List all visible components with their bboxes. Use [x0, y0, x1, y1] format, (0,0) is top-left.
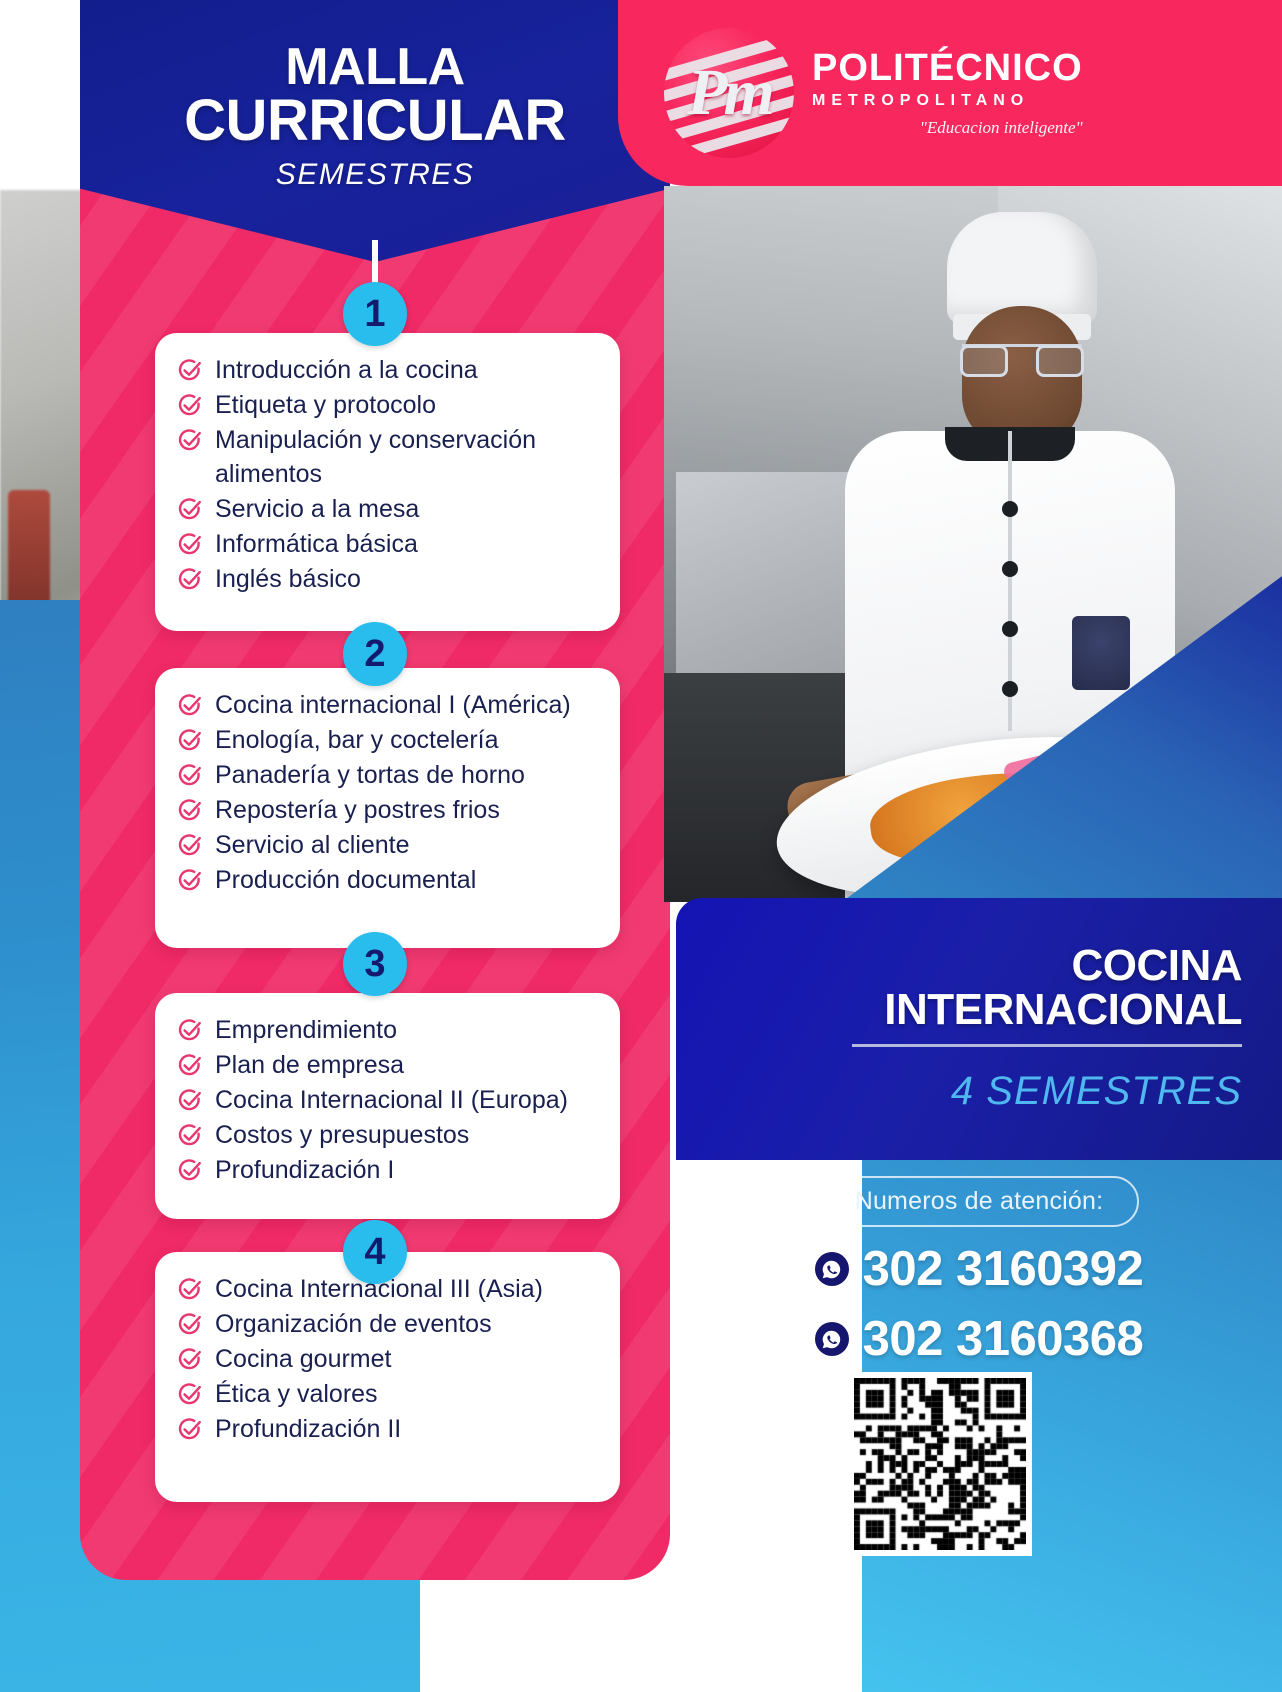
course-item: Manipulación y conservación alimentos: [177, 423, 598, 491]
program-duration: 4 SEMESTRES: [676, 1069, 1242, 1114]
course-label: Servicio a la mesa: [215, 492, 598, 526]
whatsapp-icon[interactable]: [815, 1322, 849, 1356]
program-title-line1: COCINA: [676, 944, 1242, 988]
course-item: Etiqueta y protocolo: [177, 388, 598, 422]
course-item: Cocina internacional I (América): [177, 688, 598, 722]
course-label: Producción documental: [215, 863, 598, 897]
check-circle-icon: [177, 532, 203, 558]
course-label: Profundización II: [215, 1412, 598, 1446]
check-circle-icon: [177, 1158, 203, 1184]
check-circle-icon: [177, 1347, 203, 1373]
uniform-badge: [1072, 616, 1130, 690]
check-circle-icon: [177, 1277, 203, 1303]
course-list: Introducción a la cocinaEtiqueta y proto…: [177, 353, 598, 596]
course-item: Organización de eventos: [177, 1307, 598, 1341]
course-label: Panadería y tortas de horno: [215, 758, 598, 792]
course-label: Enología, bar y coctelería: [215, 723, 598, 757]
check-circle-icon: [177, 693, 203, 719]
page-title-line1: MALLA: [80, 42, 670, 93]
brand-name: POLITÉCNICO: [812, 49, 1083, 87]
course-label: Emprendimiento: [215, 1013, 598, 1047]
course-label: Manipulación y conservación alimentos: [215, 423, 598, 491]
semester-card-4: Cocina Internacional III (Asia)Organizac…: [155, 1252, 620, 1502]
semester-badge-3[interactable]: 3: [343, 932, 407, 996]
check-circle-icon: [177, 728, 203, 754]
check-circle-icon: [177, 868, 203, 894]
course-label: Plan de empresa: [215, 1048, 598, 1082]
course-list: Cocina internacional I (América)Enología…: [177, 688, 598, 897]
brand-subname: METROPOLITANO: [812, 92, 1083, 110]
check-circle-icon: [177, 1382, 203, 1408]
program-title-line2: INTERNACIONAL: [676, 988, 1242, 1032]
course-item: Servicio al cliente: [177, 828, 598, 862]
brand-tagline: "Educacion inteligente": [812, 118, 1083, 138]
page-title-line2: CURRICULAR: [80, 93, 670, 150]
check-circle-icon: [177, 1053, 203, 1079]
check-circle-icon: [177, 1123, 203, 1149]
phone-number-1: 302 3160392: [863, 1241, 1144, 1297]
course-list: EmprendimientoPlan de empresaCocina Inte…: [177, 1013, 598, 1187]
course-item: Servicio a la mesa: [177, 492, 598, 526]
course-list: Cocina Internacional III (Asia)Organizac…: [177, 1272, 598, 1446]
check-circle-icon: [177, 567, 203, 593]
logo-monogram: Pm: [664, 28, 794, 158]
course-label: Introducción a la cocina: [215, 353, 598, 387]
course-item: Introducción a la cocina: [177, 353, 598, 387]
check-circle-icon: [177, 358, 203, 384]
course-item: Informática básica: [177, 527, 598, 561]
course-label: Ética y valores: [215, 1377, 598, 1411]
course-item: Plan de empresa: [177, 1048, 598, 1082]
course-item: Cocina gourmet: [177, 1342, 598, 1376]
phone-row-2[interactable]: 302 3160368: [676, 1311, 1282, 1367]
contact-block: Numeros de atención: 302 3160392 302 316…: [676, 1176, 1282, 1376]
course-label: Cocina internacional I (América): [215, 688, 598, 722]
check-circle-icon: [177, 1088, 203, 1114]
course-item: Ética y valores: [177, 1377, 598, 1411]
check-circle-icon: [177, 497, 203, 523]
course-item: Emprendimiento: [177, 1013, 598, 1047]
eyeglasses-icon: [962, 344, 1082, 378]
check-circle-icon: [177, 763, 203, 789]
check-circle-icon: [177, 833, 203, 859]
phone-row-1[interactable]: 302 3160392: [676, 1241, 1282, 1297]
course-item: Enología, bar y coctelería: [177, 723, 598, 757]
program-title-card: COCINA INTERNACIONAL 4 SEMESTRES: [676, 898, 1282, 1160]
course-label: Costos y presupuestos: [215, 1118, 598, 1152]
page-subtitle: SEMESTRES: [80, 158, 670, 192]
course-item: Producción documental: [177, 863, 598, 897]
student-chef-photo: [664, 186, 1282, 902]
whatsapp-icon[interactable]: [815, 1252, 849, 1286]
semester-card-2: Cocina internacional I (América)Enología…: [155, 668, 620, 948]
contact-label: Numeros de atención:: [819, 1176, 1140, 1227]
brand-text: POLITÉCNICO METROPOLITANO "Educacion int…: [812, 49, 1083, 138]
course-item: Cocina Internacional II (Europa): [177, 1083, 598, 1117]
course-item: Panadería y tortas de horno: [177, 758, 598, 792]
course-item: Costos y presupuestos: [177, 1118, 598, 1152]
course-label: Profundización I: [215, 1153, 598, 1187]
background-white-corner: [0, 0, 80, 200]
semester-card-3: EmprendimientoPlan de empresaCocina Inte…: [155, 993, 620, 1219]
qr-code[interactable]: [848, 1372, 1032, 1556]
check-circle-icon: [177, 1312, 203, 1338]
poster-canvas: MALLA CURRICULAR SEMESTRES Pm POLITÉCNIC…: [0, 0, 1282, 1692]
politecnico-logo-icon: Pm: [664, 28, 794, 158]
course-label: Organización de eventos: [215, 1307, 598, 1341]
course-item: Repostería y postres frios: [177, 793, 598, 827]
course-label: Repostería y postres frios: [215, 793, 598, 827]
course-label: Cocina gourmet: [215, 1342, 598, 1376]
title-divider: [852, 1044, 1242, 1047]
check-circle-icon: [177, 798, 203, 824]
brand-header: Pm POLITÉCNICO METROPOLITANO "Educacion …: [618, 0, 1282, 186]
phone-number-2: 302 3160368: [863, 1311, 1144, 1367]
course-label: Cocina Internacional II (Europa): [215, 1083, 598, 1117]
semester-badge-4[interactable]: 4: [343, 1220, 407, 1284]
course-item: Profundización I: [177, 1153, 598, 1187]
course-label: Cocina Internacional III (Asia): [215, 1272, 598, 1306]
check-circle-icon: [177, 1417, 203, 1443]
course-item: Profundización II: [177, 1412, 598, 1446]
course-item: Inglés básico: [177, 562, 598, 596]
check-circle-icon: [177, 428, 203, 454]
check-circle-icon: [177, 1018, 203, 1044]
semester-badge-1[interactable]: 1: [343, 282, 407, 346]
course-label: Servicio al cliente: [215, 828, 598, 862]
check-circle-icon: [177, 393, 203, 419]
course-label: Inglés básico: [215, 562, 598, 596]
semester-badge-2[interactable]: 2: [343, 622, 407, 686]
course-label: Informática básica: [215, 527, 598, 561]
semester-card-1: Introducción a la cocinaEtiqueta y proto…: [155, 333, 620, 631]
course-label: Etiqueta y protocolo: [215, 388, 598, 422]
